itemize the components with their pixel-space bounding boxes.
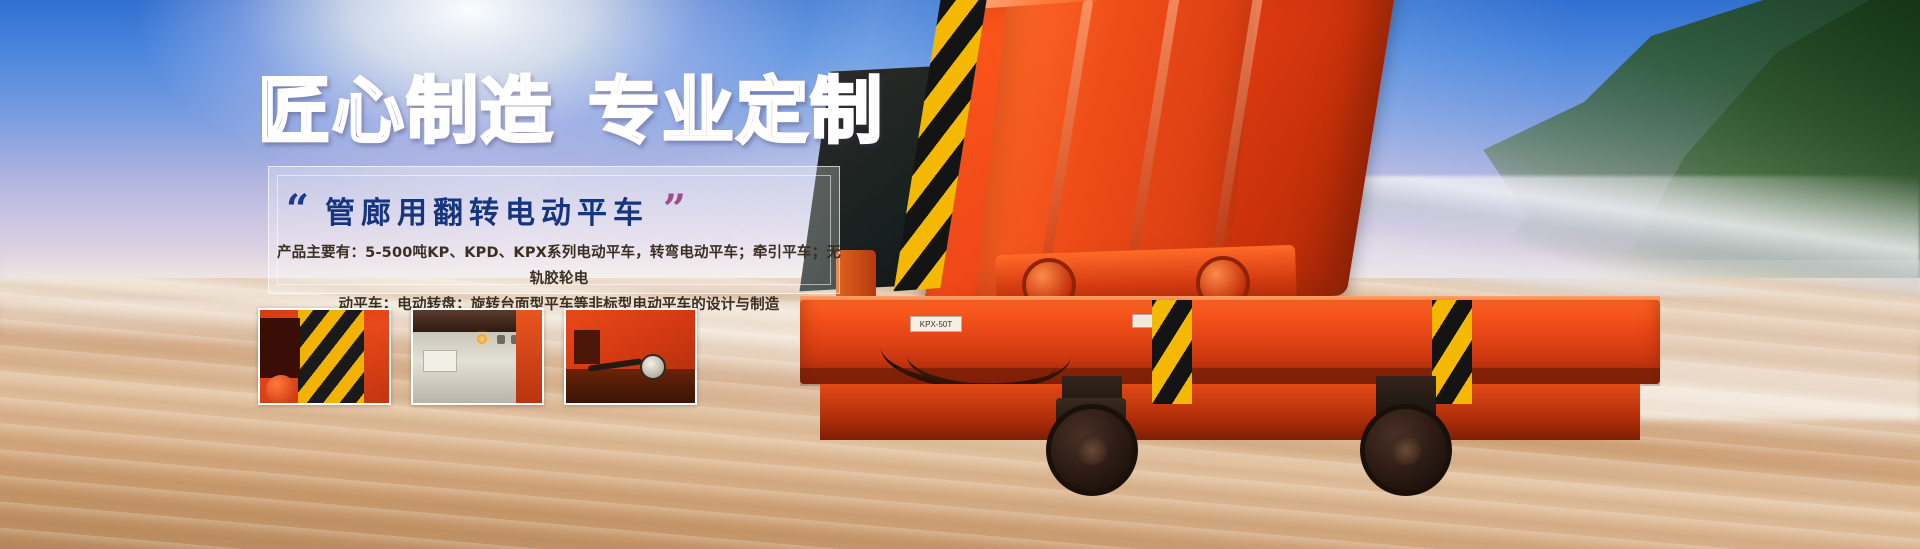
thumbnail-strip <box>258 308 697 405</box>
promo-banner: KPX-50T 匠心制造专业定制 “ 管廊用翻转电动平车 ” 产品主要有：5-5… <box>0 0 1920 549</box>
cabinet-label <box>423 350 457 372</box>
pressure-gauge-icon <box>640 354 666 380</box>
banner-description: 产品主要有：5-500吨KP、KPD、KPX系列电动平车，转弯电动平车；牵引平车… <box>276 240 842 318</box>
cart-chassis-skirt <box>820 384 1640 440</box>
banner-text-column: 匠心制造专业定制 “ 管廊用翻转电动平车 ” 产品主要有：5-500吨KP、KP… <box>0 0 900 549</box>
wheel-hub <box>1391 435 1421 465</box>
cart-wheel <box>1046 404 1138 496</box>
deck-hazard-stripe <box>1432 300 1472 404</box>
headline-part-2: 专业定制 <box>588 69 884 153</box>
thumb-dark-area <box>260 318 300 378</box>
deck-hazard-stripe <box>1152 300 1192 404</box>
thumb-dark-block <box>574 330 600 364</box>
cart-wheel <box>1360 404 1452 496</box>
banner-subtitle: 管廊用翻转电动平车 <box>325 188 649 232</box>
headline-part-1: 匠心制造 <box>258 69 554 153</box>
control-cabinet-thumb[interactable] <box>411 308 544 405</box>
indicator-lamp-icon <box>477 334 487 344</box>
subtitle-row: “ 管廊用翻转电动平车 ” <box>286 182 826 238</box>
wheel-hub <box>1077 435 1107 465</box>
quote-open-icon: “ <box>286 190 309 230</box>
hazard-stripe-cart-thumb[interactable] <box>258 308 391 405</box>
tipping-transfer-cart-illustration: KPX-50T <box>760 0 1920 549</box>
switch-icon <box>511 335 519 344</box>
quote-close-icon: ” <box>663 190 686 230</box>
banner-headline: 匠心制造专业定制 <box>258 75 884 147</box>
description-line-1: 产品主要有：5-500吨KP、KPD、KPX系列电动平车，转弯电动平车；牵引平车… <box>277 245 841 287</box>
switch-icon <box>497 335 505 344</box>
cart-deck-marking: KPX-50T <box>910 316 962 332</box>
hydraulic-gauge-thumb[interactable] <box>564 308 697 405</box>
